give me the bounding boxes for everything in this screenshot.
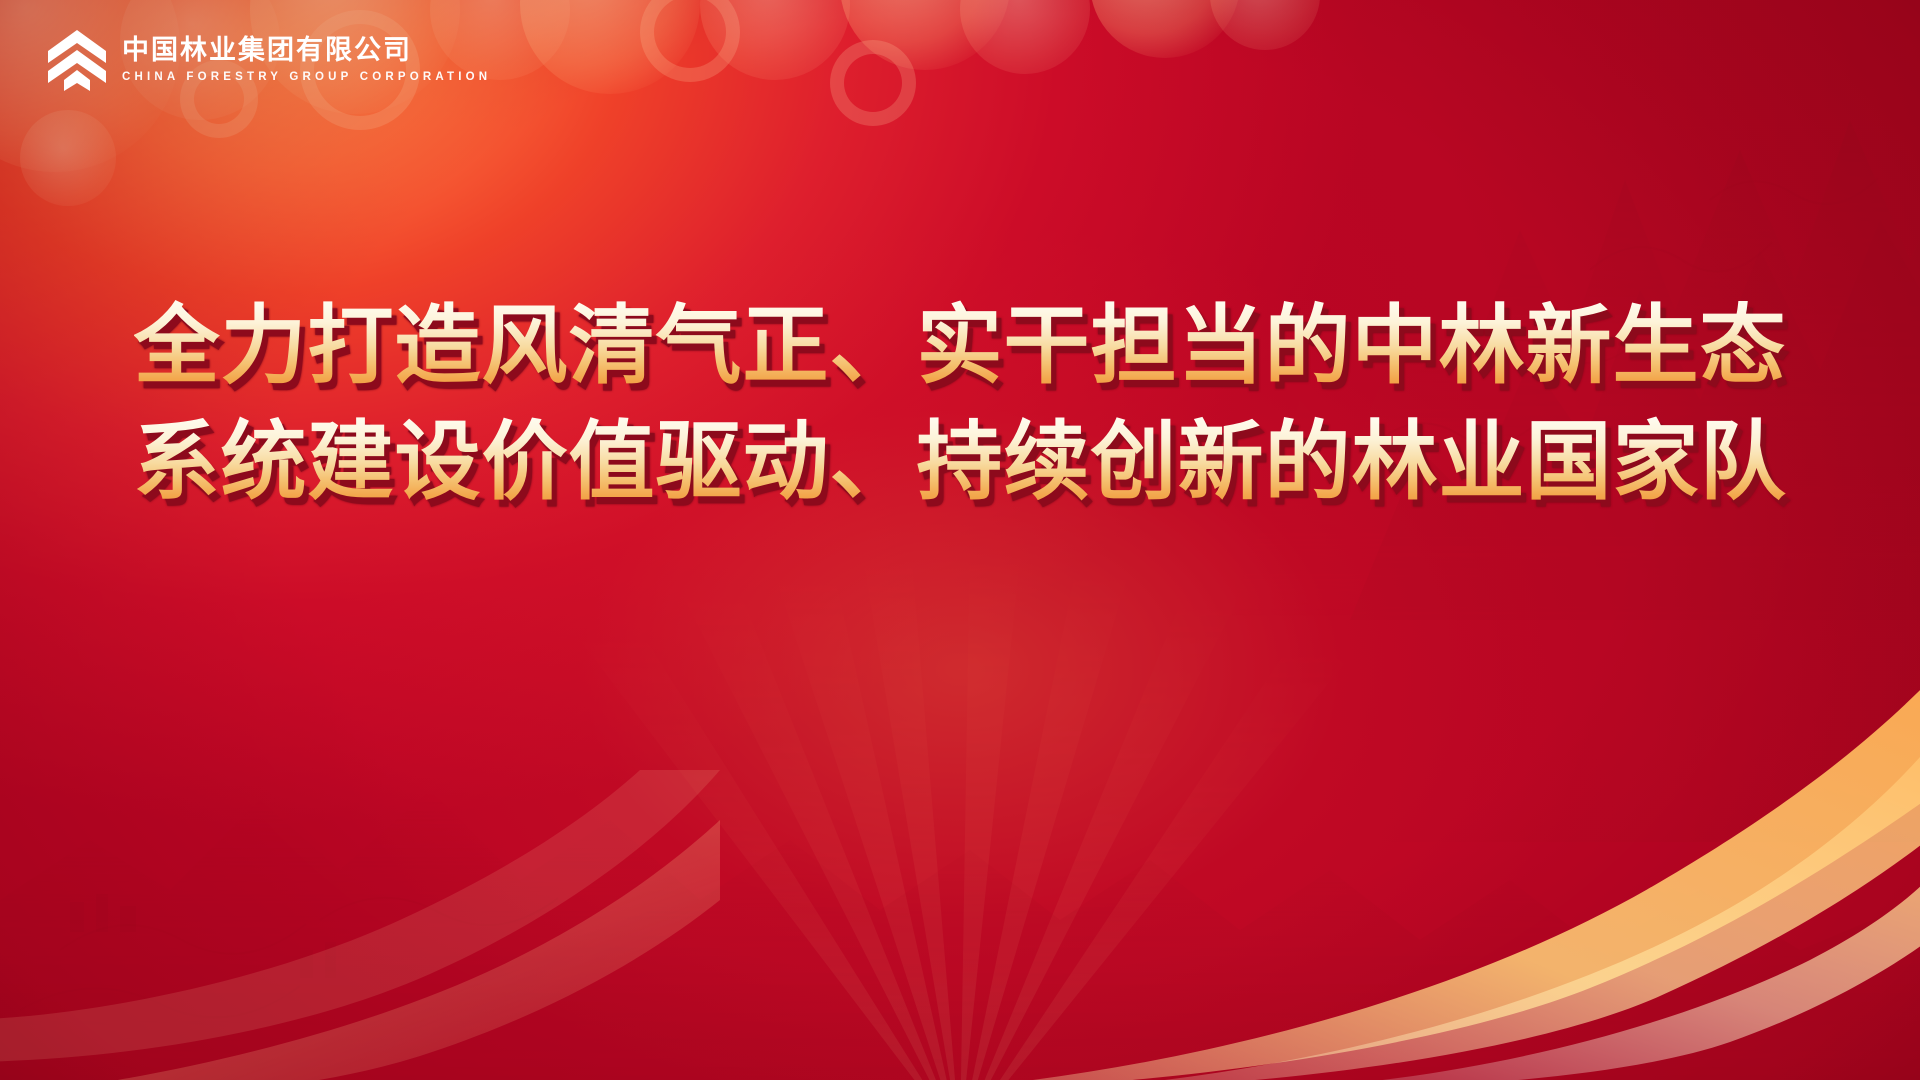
gold-ribbon-left-decor (0, 770, 720, 1080)
headline-line-1: 全力打造风清气正、实干担当的中林新生态 全力打造风清气正、实干担当的中林新生态 (134, 298, 1787, 394)
headline-block: 全力打造风清气正、实干担当的中林新生态 全力打造风清气正、实干担当的中林新生态 … (0, 298, 1920, 511)
brand-logo-text: 中国林业集团有限公司 CHINA FORESTRY GROUP CORPORAT… (122, 35, 491, 84)
brand-name-en: CHINA FORESTRY GROUP CORPORATION (122, 71, 491, 85)
forestry-chevron-mark-icon (46, 28, 108, 92)
headline-line-2-text: 系统建设价值驱动、持续创新的林业国家队 (134, 414, 1787, 510)
poster-canvas: 中国林业集团有限公司 CHINA FORESTRY GROUP CORPORAT… (0, 0, 1920, 1080)
gold-ribbon-swoosh-decor (940, 670, 1920, 1080)
brand-logo[interactable]: 中国林业集团有限公司 CHINA FORESTRY GROUP CORPORAT… (46, 28, 491, 92)
brand-name-cn: 中国林业集团有限公司 (122, 35, 491, 65)
headline-line-2: 系统建设价值驱动、持续创新的林业国家队 系统建设价值驱动、持续创新的林业国家队 (134, 414, 1787, 510)
headline-line-1-text: 全力打造风清气正、实干担当的中林新生态 (134, 298, 1787, 394)
